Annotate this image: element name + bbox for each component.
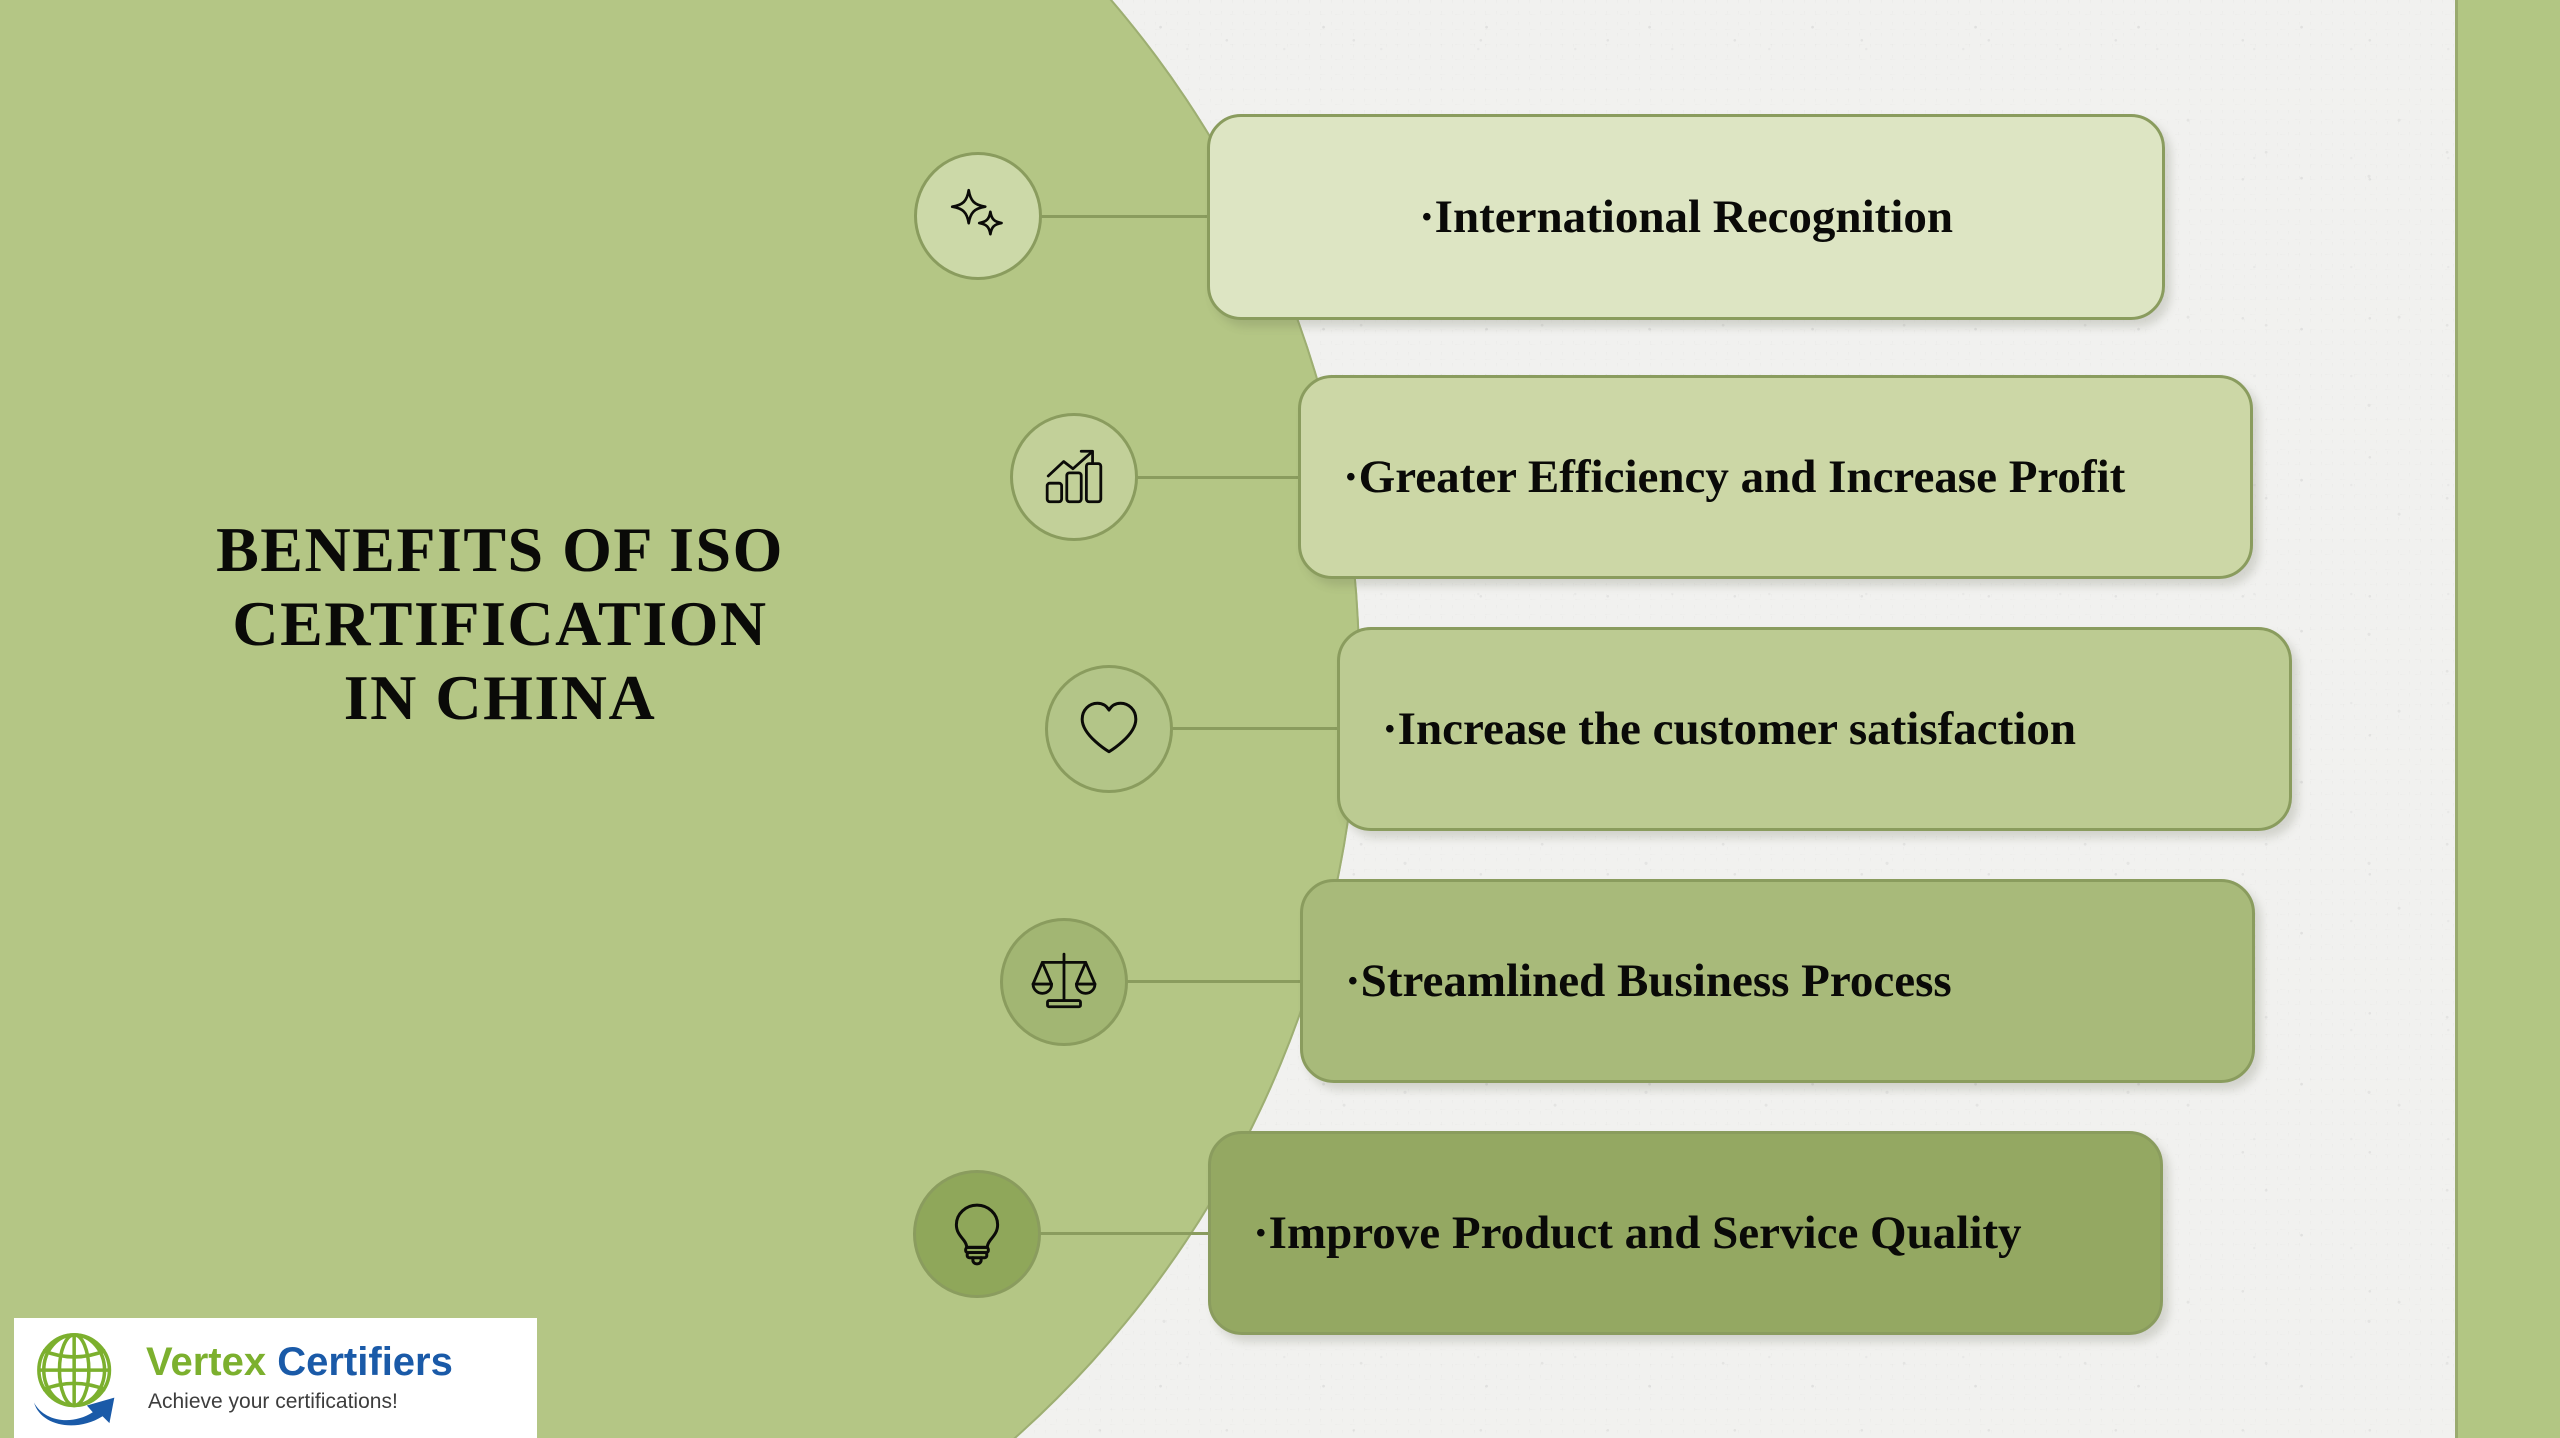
heart-icon (1076, 696, 1142, 762)
page-title-line-1: BENEFITS OF ISO (60, 513, 940, 587)
globe-arrow-logo-icon (28, 1329, 136, 1427)
connector-line-3 (1160, 727, 1350, 730)
connector-line-4 (1120, 980, 1312, 983)
logo-brand-first: Vertex (146, 1340, 266, 1384)
logo-brand-second: Certifiers (277, 1340, 453, 1384)
benefit-icon-5[interactable] (913, 1170, 1041, 1298)
page-title: BENEFITS OF ISO CERTIFICATION IN CHINA (60, 513, 940, 736)
connector-line-2 (1120, 476, 1310, 479)
benefit-card-5[interactable]: ·Improve Product and Service Quality (1208, 1131, 2163, 1335)
lightbulb-icon (944, 1201, 1010, 1267)
sparkle-icon (945, 183, 1011, 249)
benefit-card-1[interactable]: ·International Recognition (1207, 114, 2165, 320)
right-accent-band (2455, 0, 2560, 1438)
benefit-label-3: ·Increase the customer satisfaction (1340, 698, 2289, 760)
benefit-icon-4[interactable] (1000, 918, 1128, 1046)
page-title-line-2: CERTIFICATION (60, 587, 940, 661)
infographic-slide: BENEFITS OF ISO CERTIFICATION IN CHINA ·… (0, 0, 2560, 1438)
connector-line-1 (1030, 215, 1220, 218)
benefit-label-4: ·Streamlined Business Process (1303, 950, 2252, 1012)
logo-tagline: Achieve your certifications! (148, 1390, 453, 1414)
bar-chart-growth-icon (1041, 444, 1107, 510)
page-title-line-3: IN CHINA (60, 661, 940, 735)
benefit-icon-1[interactable] (914, 152, 1042, 280)
benefit-card-2[interactable]: ·Greater Efficiency and Increase Profit (1298, 375, 2253, 579)
connector-line-5 (1030, 1232, 1220, 1235)
benefit-label-5: ·Improve Product and Service Quality (1211, 1202, 2160, 1264)
benefit-icon-3[interactable] (1045, 665, 1173, 793)
benefit-card-4[interactable]: ·Streamlined Business Process (1300, 879, 2255, 1083)
benefit-label-1: ·International Recognition (1210, 186, 2162, 248)
company-logo[interactable]: Vertex Certifiers Achieve your certifica… (14, 1318, 537, 1438)
benefit-card-3[interactable]: ·Increase the customer satisfaction (1337, 627, 2292, 831)
logo-wordmark: Vertex Certifiers (146, 1342, 453, 1382)
benefit-icon-2[interactable] (1010, 413, 1138, 541)
balance-scales-icon (1031, 949, 1097, 1015)
logo-text-block: Vertex Certifiers Achieve your certifica… (146, 1342, 453, 1414)
benefit-label-2: ·Greater Efficiency and Increase Profit (1301, 446, 2250, 508)
